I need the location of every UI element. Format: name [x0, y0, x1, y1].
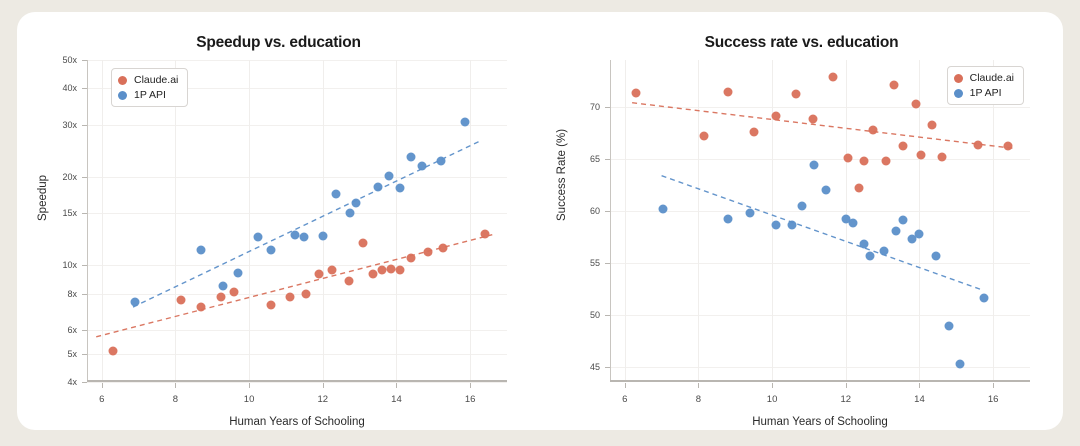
data-point-api	[291, 230, 300, 239]
data-point-claude	[699, 132, 708, 141]
legend-success-rate[interactable]: Claude.ai 1P API	[947, 66, 1024, 105]
data-point-api	[880, 246, 889, 255]
data-point-api	[374, 183, 383, 192]
x-axis-tick	[625, 383, 626, 388]
data-point-claude	[974, 141, 983, 150]
data-point-api	[418, 161, 427, 170]
x-axis-tick-label: 10	[244, 394, 255, 405]
data-point-claude	[631, 89, 640, 98]
y-axis-tick-label: 50	[590, 310, 600, 320]
data-point-claude	[368, 270, 377, 279]
x-axis-tick-label: 6	[622, 394, 627, 405]
data-point-api	[346, 209, 355, 218]
data-point-claude	[898, 142, 907, 151]
data-point-api	[956, 360, 965, 369]
data-point-api	[436, 156, 445, 165]
legend-swatch-claude-icon	[954, 74, 963, 83]
x-axis-tick	[323, 383, 324, 388]
legend-label-api: 1P API	[970, 87, 1002, 99]
data-point-api	[746, 209, 755, 218]
trendline-layer	[610, 60, 1030, 382]
x-axis-tick-label: 10	[767, 394, 778, 405]
x-axis-tick	[470, 383, 471, 388]
y-axis-tick-label: 6x	[67, 325, 77, 335]
data-point-claude	[108, 347, 117, 356]
data-point-claude	[217, 292, 226, 301]
data-point-api	[788, 220, 797, 229]
data-point-claude	[377, 266, 386, 275]
gridline-horizontal	[87, 382, 507, 383]
trendline-claude	[632, 103, 1015, 149]
chart-panel-speedup: Speedup vs. education 4x5x6x8x10x15x20x3…	[17, 12, 540, 430]
trendline-claude	[96, 235, 492, 337]
legend-label-api: 1P API	[134, 89, 166, 101]
legend-item-api[interactable]: 1P API	[118, 89, 178, 101]
y-axis-tick-label: 50x	[62, 55, 77, 65]
x-axis-tick-label: 14	[914, 394, 925, 405]
plot-area-speedup: 4x5x6x8x10x15x20x30x40x50x6810121416 Cla…	[87, 60, 507, 382]
chart-title-speedup: Speedup vs. education	[17, 34, 540, 52]
chart-panel-success-rate: Success rate vs. education 4550556065706…	[540, 12, 1063, 430]
x-axis-title-speedup: Human Years of Schooling	[87, 416, 507, 428]
x-axis-tick	[772, 383, 773, 388]
y-axis-tick-label: 65	[590, 154, 600, 164]
data-point-claude	[315, 270, 324, 279]
trendline-layer	[87, 60, 507, 382]
x-axis-tick	[993, 383, 994, 388]
data-point-api	[860, 240, 869, 249]
data-point-api	[979, 293, 988, 302]
data-point-api	[659, 205, 668, 214]
x-axis-tick-label: 14	[391, 394, 402, 405]
x-axis-tick-label: 6	[99, 394, 104, 405]
data-point-claude	[723, 88, 732, 97]
x-axis-tick	[919, 383, 920, 388]
data-point-claude	[1003, 142, 1012, 151]
data-point-api	[234, 269, 243, 278]
legend-swatch-api-icon	[118, 91, 127, 100]
y-axis-tick-label: 70	[590, 102, 600, 112]
x-axis-tick	[249, 383, 250, 388]
data-point-claude	[854, 184, 863, 193]
data-point-claude	[937, 152, 946, 161]
data-point-api	[407, 153, 416, 162]
data-point-claude	[302, 289, 311, 298]
y-axis-tick-label: 8x	[67, 289, 77, 299]
data-point-claude	[396, 266, 405, 275]
y-axis-title-speedup: Speedup	[37, 175, 49, 221]
y-axis-title-success-rate: Success Rate (%)	[556, 129, 568, 221]
data-point-claude	[828, 72, 837, 81]
data-point-api	[254, 232, 263, 241]
data-point-claude	[267, 301, 276, 310]
legend-item-api[interactable]: 1P API	[954, 87, 1014, 99]
x-axis-title-success-rate: Human Years of Schooling	[610, 416, 1030, 428]
y-axis-tick-label: 15x	[62, 208, 77, 218]
x-axis-tick-label: 12	[840, 394, 851, 405]
legend-label-claude: Claude.ai	[970, 72, 1014, 84]
data-point-api	[197, 245, 206, 254]
data-point-claude	[843, 153, 852, 162]
chart-title-success-rate: Success rate vs. education	[540, 34, 1063, 52]
data-point-api	[723, 215, 732, 224]
y-axis-tick-label: 40x	[62, 83, 77, 93]
data-point-api	[396, 184, 405, 193]
data-point-api	[932, 251, 941, 260]
data-point-api	[865, 251, 874, 260]
legend-item-claude[interactable]: Claude.ai	[954, 72, 1014, 84]
plot-area-success-rate: 4550556065706810121416 Claude.ai 1P API …	[610, 60, 1030, 382]
data-point-claude	[917, 150, 926, 159]
y-axis-tick-label: 5x	[67, 349, 77, 359]
x-axis-tick	[846, 383, 847, 388]
legend-swatch-claude-icon	[118, 76, 127, 85]
x-axis-tick-label: 8	[173, 394, 178, 405]
data-point-claude	[344, 277, 353, 286]
data-point-api	[821, 186, 830, 195]
data-point-api	[810, 161, 819, 170]
data-point-api	[267, 245, 276, 254]
data-point-api	[331, 189, 340, 198]
data-point-api	[300, 232, 309, 241]
legend-label-claude: Claude.ai	[134, 74, 178, 86]
x-axis-tick	[102, 383, 103, 388]
y-axis-tick-label: 10x	[62, 260, 77, 270]
y-axis-tick-label: 20x	[62, 172, 77, 182]
data-point-claude	[438, 244, 447, 253]
legend-speedup[interactable]: Claude.ai 1P API	[111, 68, 188, 107]
legend-swatch-api-icon	[954, 89, 963, 98]
data-point-claude	[860, 157, 869, 166]
data-point-claude	[423, 247, 432, 256]
y-axis-tick-label: 45	[590, 362, 600, 372]
data-point-claude	[480, 229, 489, 238]
data-point-claude	[386, 265, 395, 274]
data-point-claude	[328, 266, 337, 275]
data-point-claude	[911, 99, 920, 108]
x-axis-tick	[396, 383, 397, 388]
data-point-api	[891, 226, 900, 235]
x-axis-tick-label: 12	[317, 394, 328, 405]
x-axis-tick-label: 16	[988, 394, 999, 405]
legend-item-claude[interactable]: Claude.ai	[118, 74, 178, 86]
data-point-api	[351, 198, 360, 207]
data-point-claude	[285, 292, 294, 301]
data-point-api	[944, 321, 953, 330]
chart-card: Speedup vs. education 4x5x6x8x10x15x20x3…	[17, 12, 1063, 430]
data-point-claude	[359, 239, 368, 248]
data-point-api	[219, 281, 228, 290]
y-axis-tick-label: 4x	[67, 377, 77, 387]
data-point-claude	[407, 253, 416, 262]
y-axis-tick	[82, 382, 87, 383]
data-point-claude	[869, 125, 878, 134]
data-point-api	[460, 118, 469, 127]
data-point-claude	[230, 288, 239, 297]
data-point-api	[771, 220, 780, 229]
data-point-api	[898, 216, 907, 225]
data-point-api	[797, 201, 806, 210]
x-axis-tick	[175, 383, 176, 388]
data-point-claude	[771, 112, 780, 121]
data-point-api	[385, 172, 394, 181]
data-point-claude	[792, 90, 801, 99]
x-axis-tick-label: 8	[696, 394, 701, 405]
data-point-api	[915, 230, 924, 239]
data-point-claude	[889, 81, 898, 90]
x-axis-tick-label: 16	[465, 394, 476, 405]
data-point-claude	[882, 157, 891, 166]
data-point-claude	[176, 296, 185, 305]
data-point-api	[130, 297, 139, 306]
y-axis-tick-label: 30x	[62, 120, 77, 130]
y-axis-tick-label: 55	[590, 258, 600, 268]
data-point-claude	[749, 127, 758, 136]
data-point-claude	[928, 120, 937, 129]
y-axis-tick-label: 60	[590, 206, 600, 216]
x-axis-tick	[698, 383, 699, 388]
data-point-claude	[808, 115, 817, 124]
data-point-api	[849, 218, 858, 227]
data-point-api	[318, 231, 327, 240]
data-point-claude	[197, 303, 206, 312]
